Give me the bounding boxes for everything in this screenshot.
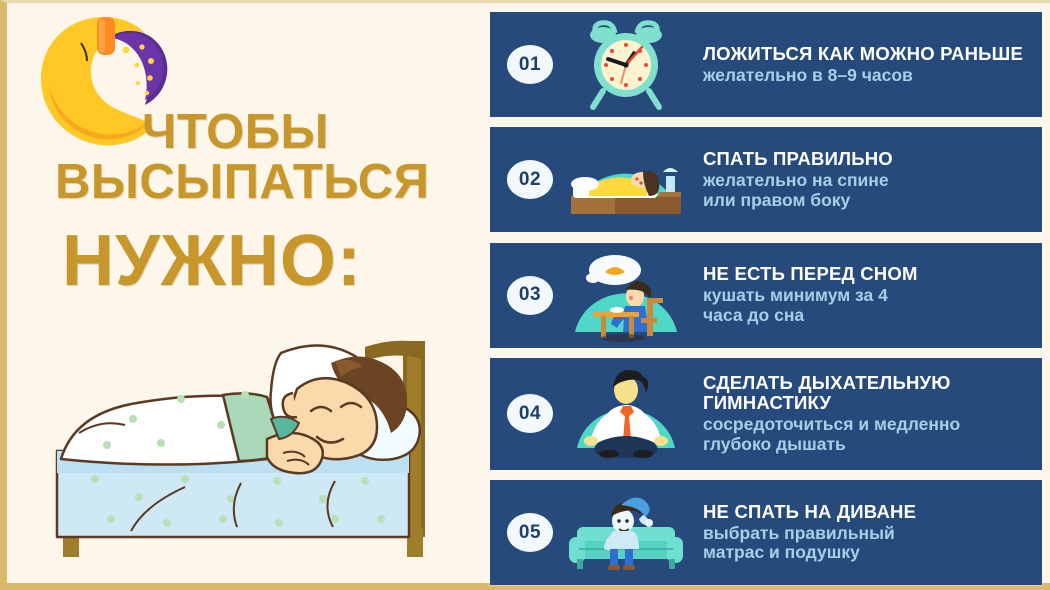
status-badge: 02 (507, 160, 553, 199)
list-item-title: НЕ ЕСТЬ ПЕРЕД СНОМ (703, 264, 1034, 284)
list-item[interactable]: 04 (490, 358, 1042, 470)
list-item-subtitle: желательно в 8–9 часов (703, 66, 1034, 86)
list-item-title: СДЕЛАТЬ ДЫХАТЕЛЬНУЮ ГИМНАСТИКУ (703, 373, 1034, 413)
infographic-poster: ЧТОБЫ ВЫСЫПАТЬСЯ НУЖНО: (0, 0, 1050, 590)
status-badge: 01 (507, 45, 553, 84)
left-panel: ЧТОБЫ ВЫСЫПАТЬСЯ НУЖНО: (7, 3, 487, 586)
headline-line-2: ВЫСЫПАТЬСЯ (55, 158, 429, 207)
status-badge: 04 (507, 394, 553, 433)
bed-sleeping-person-icon (563, 132, 689, 227)
list-item-subtitle: выбрать правильный матрас и подушку (703, 524, 1034, 563)
status-badge: 05 (507, 513, 553, 552)
list-item-subtitle: сосредоточиться и медленно глубоко дышат… (703, 415, 1034, 454)
tips-list: 01 (490, 12, 1042, 585)
person-at-table-food-icon (563, 248, 689, 343)
headline-line-3: НУЖНО: (62, 225, 362, 297)
list-item-title: ЛОЖИТЬСЯ КАК МОЖНО РАНЬШЕ (703, 44, 1034, 64)
list-item-subtitle: кушать минимум за 4 часа до сна (703, 286, 1034, 325)
boy-sleeping-in-bed-illustration (35, 333, 490, 583)
headline-line-1: ЧТОБЫ (142, 108, 329, 157)
person-on-sofa-icon (563, 485, 689, 580)
list-item[interactable]: 01 (490, 12, 1042, 117)
list-item[interactable]: 02 (490, 127, 1042, 232)
list-item-title: СПАТЬ ПРАВИЛЬНО (703, 149, 1034, 169)
list-item-subtitle: желательно на спине или правом боку (703, 171, 1034, 210)
meditating-person-icon (563, 366, 689, 461)
status-badge: 03 (507, 276, 553, 315)
list-item-title: НЕ СПАТЬ НА ДИВАНЕ (703, 502, 1034, 522)
alarm-clock-icon (563, 17, 689, 112)
list-item[interactable]: 03 (490, 243, 1042, 348)
list-item[interactable]: 05 (490, 480, 1042, 585)
